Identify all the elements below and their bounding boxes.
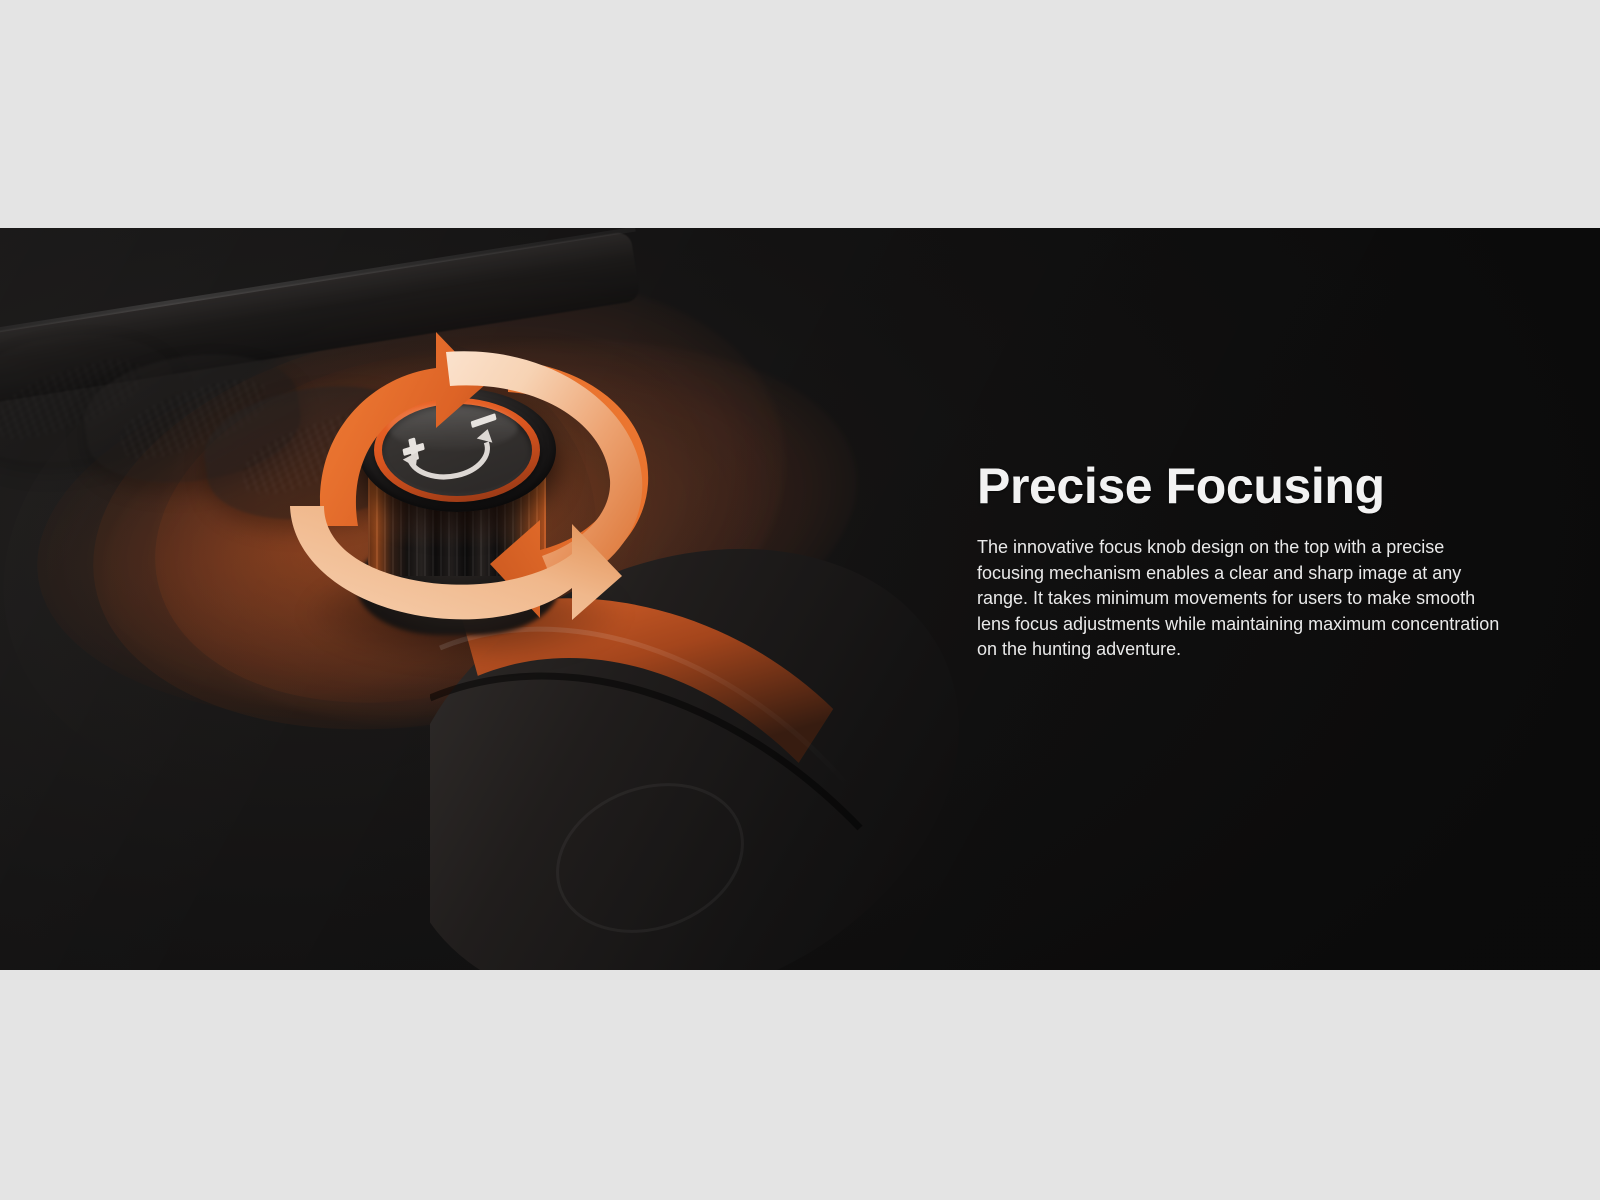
- hero-copy: Precise Focusing The innovative focus kn…: [977, 460, 1505, 663]
- page-root: Precise Focusing The innovative focus kn…: [0, 0, 1600, 1200]
- rotation-arrow-rings: [250, 288, 720, 688]
- top-spacer-band: [0, 0, 1600, 228]
- hero-panel: Precise Focusing The innovative focus kn…: [0, 228, 1600, 970]
- hero-description: The innovative focus knob design on the …: [977, 535, 1505, 663]
- bottom-spacer-band: [0, 970, 1600, 1200]
- focus-knob-illustration: [0, 228, 950, 970]
- page-title: Precise Focusing: [977, 460, 1505, 513]
